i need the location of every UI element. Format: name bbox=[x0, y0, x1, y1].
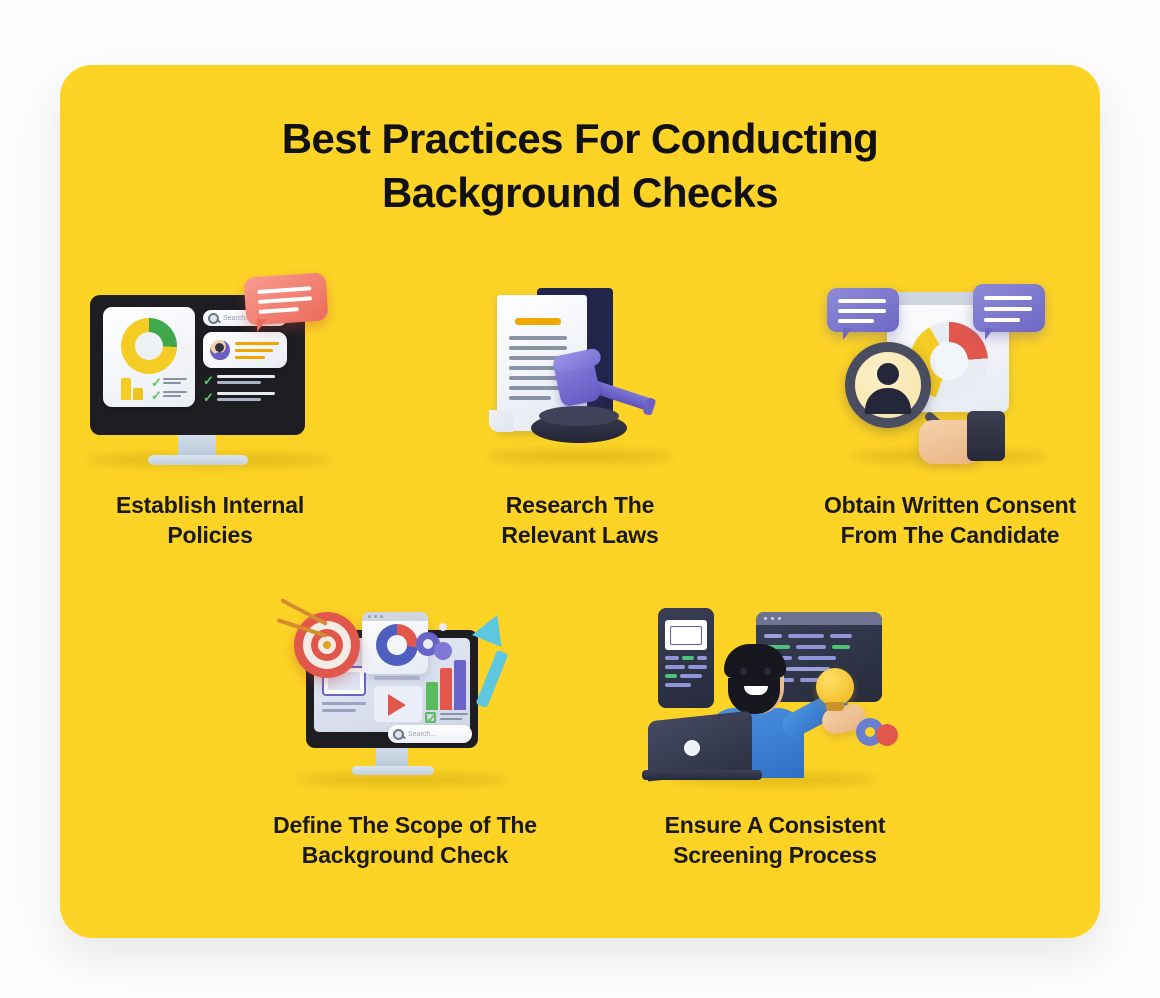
title-line-2: Background Checks bbox=[60, 166, 1100, 220]
practice-caption-3: Obtain Written Consent From The Candidat… bbox=[824, 490, 1076, 551]
avatar bbox=[210, 340, 230, 360]
infographic-card: Best Practices For Conducting Background… bbox=[60, 65, 1100, 938]
practice-item-4: ✓ ✓ bbox=[255, 590, 555, 871]
caption-2-line-1: Research The bbox=[501, 490, 658, 520]
speech-bubble-icon bbox=[973, 284, 1045, 332]
speech-bubble-icon bbox=[827, 288, 899, 332]
practice-caption-2: Research The Relevant Laws bbox=[501, 490, 658, 551]
practice-caption-5: Ensure A Consistent Screening Process bbox=[665, 810, 886, 871]
search-icon bbox=[393, 729, 404, 740]
page-title: Best Practices For Conducting Background… bbox=[60, 112, 1100, 220]
caption-1-line-2: Policies bbox=[116, 520, 304, 550]
caption-5-line-1: Ensure A Consistent bbox=[665, 810, 886, 840]
practices-row-1: ✓ ✓ Search... bbox=[60, 270, 1100, 551]
magnifier-person-consent-icon bbox=[815, 270, 1085, 470]
caption-3-line-2: From The Candidate bbox=[824, 520, 1076, 550]
practice-item-2: Research The Relevant Laws bbox=[430, 270, 730, 551]
legal-document-gavel-icon bbox=[445, 270, 715, 470]
practices-row-2: ✓ ✓ bbox=[60, 590, 1100, 871]
search-placeholder: Search... bbox=[408, 731, 436, 738]
gear-icon bbox=[434, 642, 452, 660]
practice-item-1: ✓ ✓ Search... bbox=[60, 270, 360, 551]
practice-caption-4: Define The Scope of The Background Check bbox=[273, 810, 537, 871]
infographic-canvas: Best Practices For Conducting Background… bbox=[0, 0, 1160, 998]
speech-bubble-icon bbox=[243, 272, 328, 326]
gear-icon bbox=[876, 724, 898, 746]
title-line-1: Best Practices For Conducting bbox=[60, 112, 1100, 166]
caption-1-line-1: Establish Internal bbox=[116, 490, 304, 520]
practice-caption-1: Establish Internal Policies bbox=[116, 490, 304, 551]
practice-item-3: Obtain Written Consent From The Candidat… bbox=[800, 270, 1100, 551]
search-input[interactable]: Search... bbox=[388, 725, 472, 743]
practice-item-5: Ensure A Consistent Screening Process bbox=[625, 590, 925, 871]
target-dashboard-scope-icon: ✓ ✓ bbox=[270, 590, 540, 790]
caption-4-line-1: Define The Scope of The bbox=[273, 810, 537, 840]
lightbulb-icon bbox=[816, 668, 854, 706]
caption-3-line-1: Obtain Written Consent bbox=[824, 490, 1076, 520]
desktop-dashboard-icon: ✓ ✓ Search... bbox=[75, 270, 345, 470]
search-icon bbox=[208, 313, 219, 324]
caption-2-line-2: Relevant Laws bbox=[501, 520, 658, 550]
caption-5-line-2: Screening Process bbox=[665, 840, 886, 870]
magnifier-icon bbox=[845, 342, 931, 428]
developer-workflow-icon bbox=[640, 590, 910, 790]
caption-4-line-2: Background Check bbox=[273, 840, 537, 870]
